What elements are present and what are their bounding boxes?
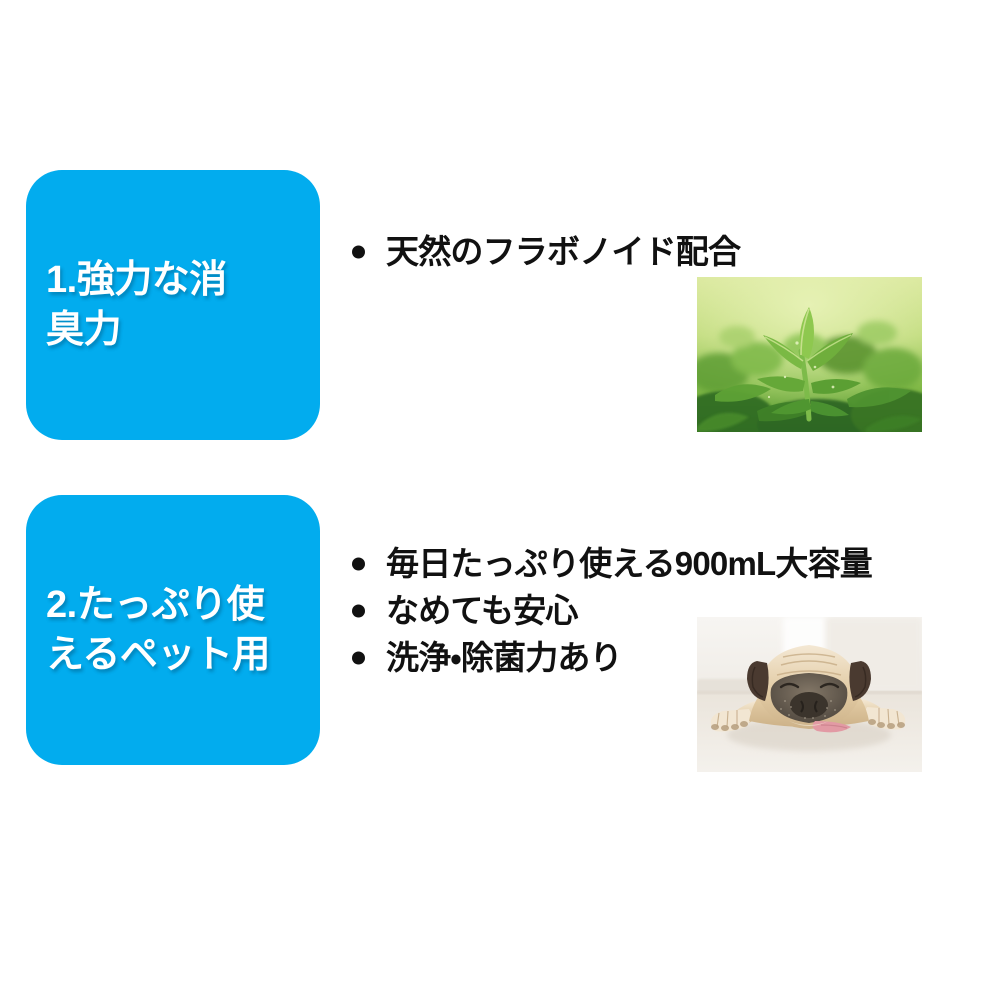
feature-box-1-label: 1.強力な消 臭力	[46, 255, 306, 355]
bullet-text: 毎日たっぷり使える900mL大容量	[386, 545, 872, 582]
green-tea-leaves-illustration	[697, 277, 922, 432]
bullet-dot-icon	[352, 604, 365, 617]
bullet-dot-icon	[352, 245, 365, 258]
feature-box-1-label-line1: 1.強力な消	[46, 259, 227, 301]
bullet-text: 天然のフラボノイド配合	[386, 233, 740, 270]
pug-dog-photo	[697, 617, 922, 772]
feature-box-2-label-line1: 2.たっぷり使	[46, 584, 264, 626]
feature-box-2: 2.たっぷり使 えるペット用	[26, 495, 320, 765]
feature-box-1: 1.強力な消 臭力	[26, 170, 320, 440]
list-item: 天然のフラボノイド配合	[350, 228, 740, 275]
green-tea-leaves-photo	[697, 277, 922, 432]
feature-1-bullet-list: 天然のフラボノイド配合	[350, 228, 740, 275]
feature-box-2-label-line2: えるペット用	[46, 634, 270, 676]
bullet-text: 洗浄・除菌力あり	[386, 639, 622, 676]
infographic-canvas: 1.強力な消 臭力 天然のフラボノイド配合	[0, 0, 1000, 1000]
feature-box-2-label: 2.たっぷり使 えるペット用	[46, 580, 306, 680]
bullet-text: なめても安心	[386, 592, 578, 629]
feature-box-1-label-line2: 臭力	[46, 309, 121, 351]
bullet-dot-icon	[352, 651, 365, 664]
bullet-dot-icon	[352, 557, 365, 570]
list-item: 毎日たっぷり使える900mL大容量	[350, 540, 872, 587]
pug-dog-illustration	[697, 617, 922, 772]
